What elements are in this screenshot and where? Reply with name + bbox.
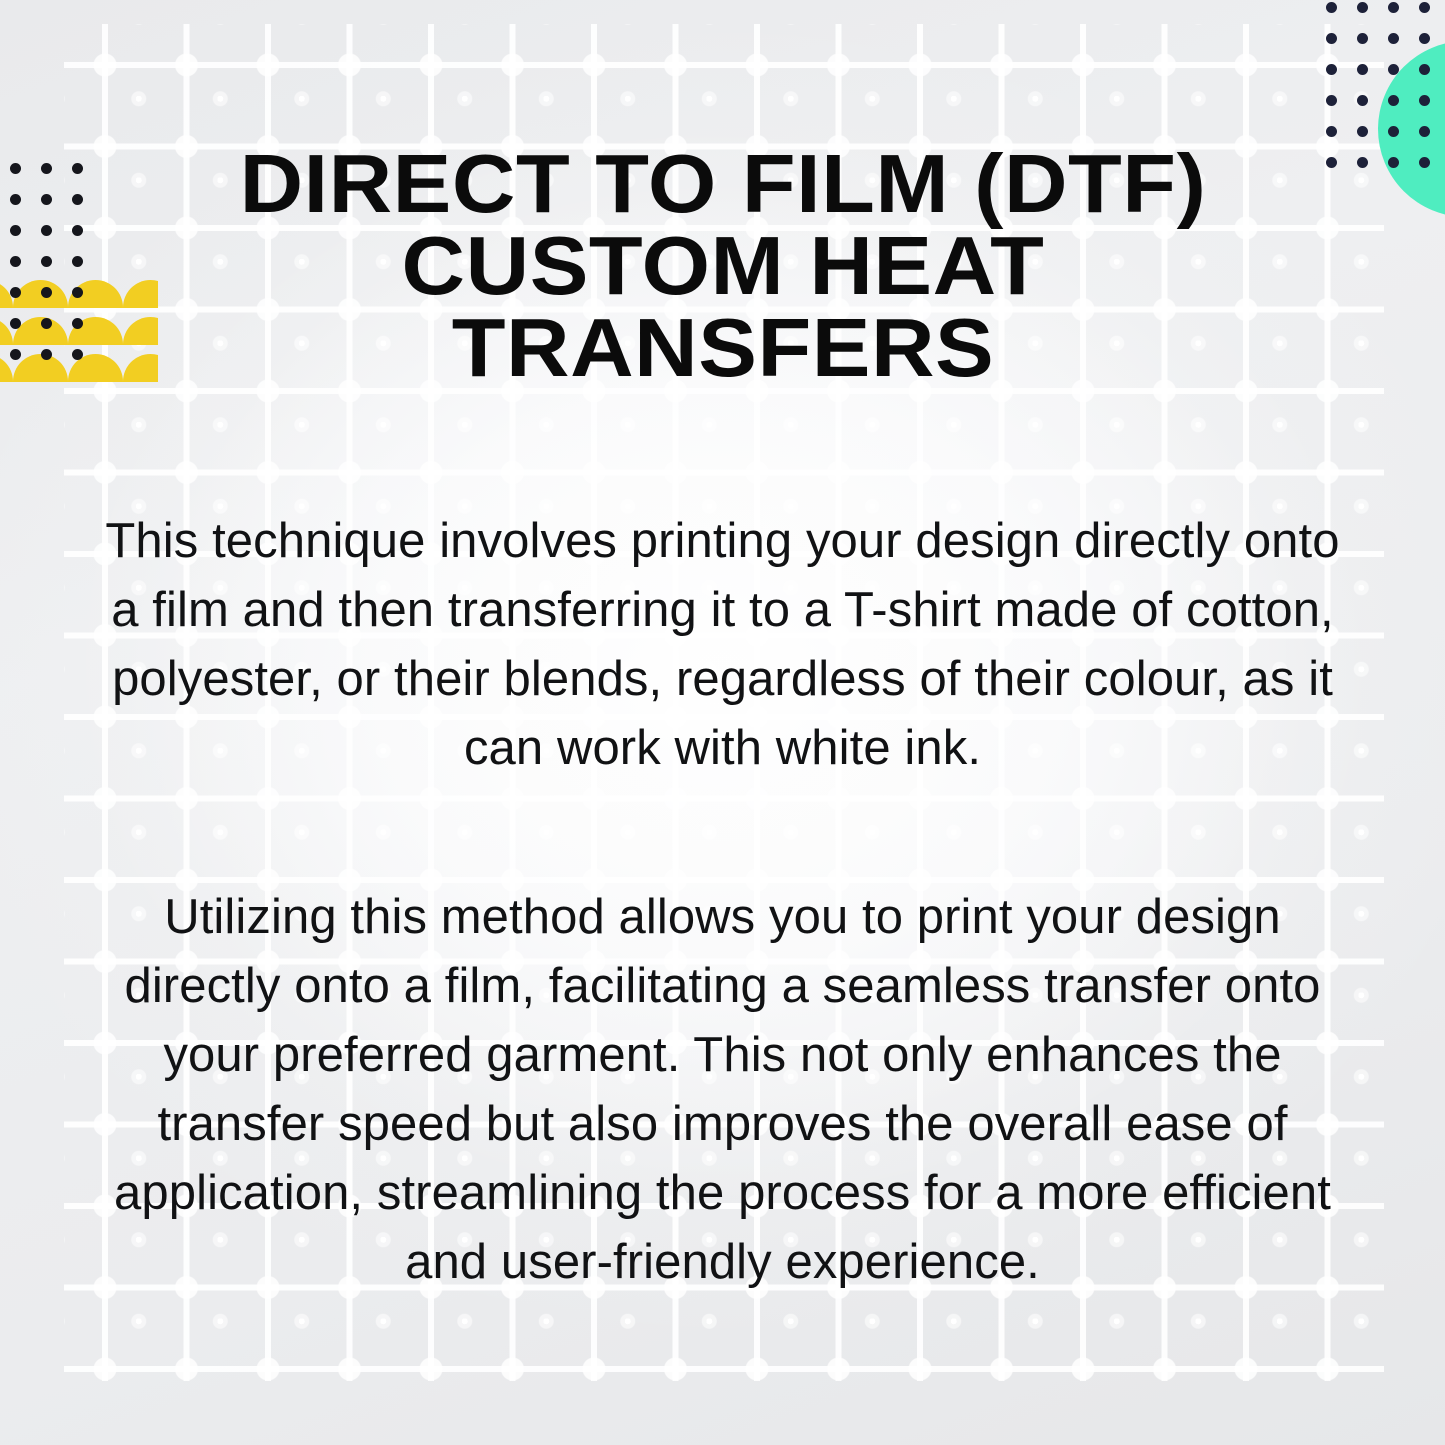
poster-canvas: DIRECT TO FILM (DTF) CUSTOM HEAT TRANSFE… bbox=[0, 0, 1445, 1445]
body-paragraph-2: Utilizing this method allows you to prin… bbox=[98, 883, 1348, 1297]
page-title: DIRECT TO FILM (DTF) CUSTOM HEAT TRANSFE… bbox=[129, 143, 1316, 389]
poster-content: DIRECT TO FILM (DTF) CUSTOM HEAT TRANSFE… bbox=[0, 0, 1445, 1445]
body-paragraph-1: This technique involves printing your de… bbox=[98, 507, 1348, 783]
body-copy: This technique involves printing your de… bbox=[98, 507, 1348, 1297]
